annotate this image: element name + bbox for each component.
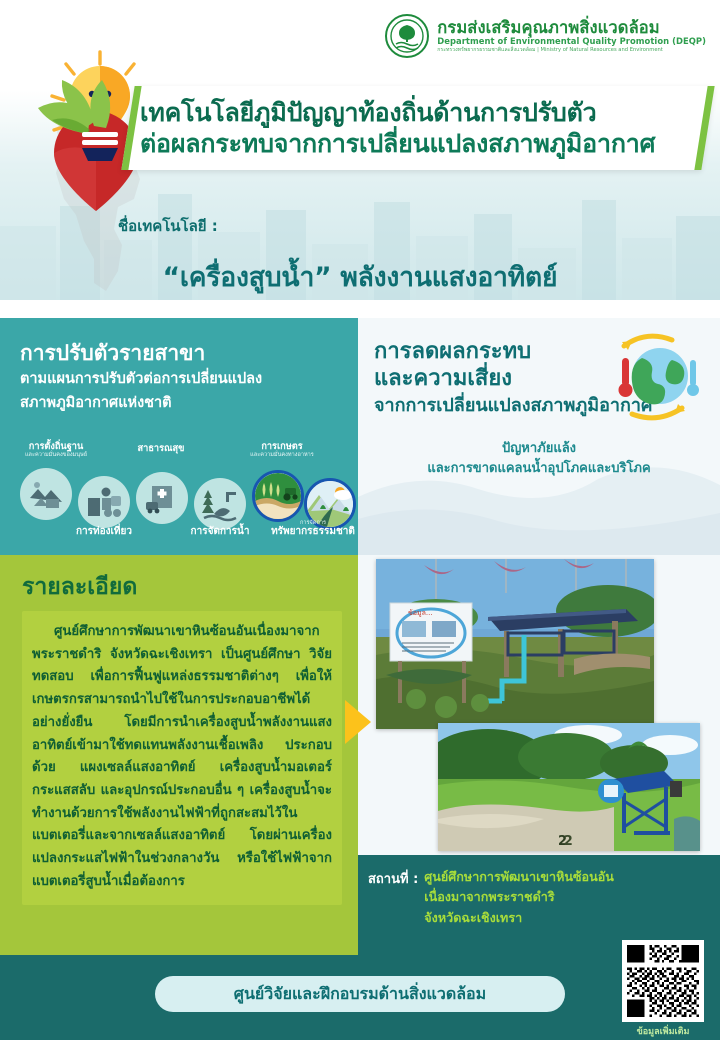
location-line-2: เนื่องมาจากพระราชดำริ (424, 887, 614, 907)
poster-title: เทคโนโลยีภูมิปัญญาท้องถิ่นด้านการปรับตัว… (140, 86, 710, 170)
agriculture-glyph (255, 473, 301, 519)
impact-panel: การลดผลกระทบ และความเสี่ยง จากการเปลี่ยน… (358, 318, 720, 555)
tree-water-glyph (390, 19, 424, 53)
org-ministry: กระทรวงทรัพยากรธรรมชาติและสิ่งแวดล้อม | … (437, 48, 706, 53)
poster-root: เทคโนโลยีภูมิปัญญาท้องถิ่นด้านการปรับตัว… (0, 0, 720, 1040)
org-name-th: กรมส่งเสริมคุณภาพสิ่งแวดล้อม (437, 19, 706, 36)
sector-label-tourism: การท่องเที่ยว (58, 526, 150, 537)
sector-label-water-management: การจัดการน้ำ (174, 526, 266, 537)
adaptation-panel: การปรับตัวรายสาขา ตามแผนการปรับตัวต่อการ… (0, 318, 358, 555)
location-label: สถานที่ : (368, 867, 418, 955)
mid-panels: การปรับตัวรายสาขา ตามแผนการปรับตัวต่อการ… (0, 318, 720, 555)
footer-center-name: ศูนย์วิจัยและฝึกอบรมด้านสิ่งแวดล้อม (234, 982, 486, 1007)
svg-text:ข้อมูล...: ข้อมูล... (408, 609, 433, 617)
sector-icon-row: การตั้งถิ่นฐาน และความมั่นคงของมนุษย์ สา… (8, 442, 358, 552)
details-body-box: ศูนย์ศึกษาการพัฒนาเขาหินซ้อนอันเนื่องมาจ… (22, 611, 342, 905)
tourism-glyph (84, 482, 124, 522)
adaptation-subheading-2: สภาพภูมิอากาศแห่งชาติ (20, 393, 344, 414)
impact-issue-line-2: และการขาดแคลนน้ำอุปโภคและบริโภค (374, 459, 704, 479)
sector-label-settlement: การตั้งถิ่นฐาน และความมั่นคงของมนุษย์ (10, 442, 102, 459)
title-line-2: ต่อผลกระทบจากการเปลี่ยนแปลงสภาพภูมิอากาศ (140, 129, 655, 159)
details-heading: รายละเอียด (22, 569, 342, 605)
settlement-icon[interactable] (20, 468, 72, 520)
adaptation-heading: การปรับตัวรายสาขา (20, 340, 344, 366)
water-glyph (200, 484, 240, 524)
poster-header: เทคโนโลยีภูมิปัญญาท้องถิ่นด้านการปรับตัว… (0, 0, 720, 300)
hospital-glyph (142, 478, 182, 518)
water-management-icon[interactable] (194, 478, 246, 530)
title-line-1: เทคโนโลยีภูมิปัญญาท้องถิ่นด้านการปรับตัว (140, 98, 596, 128)
qr-caption: ข้อมูลเพิ่มเติม (618, 1024, 708, 1038)
impact-issue: ปัญหาภัยแล้ง และการขาดแคลนน้ำอุปโภคและบร… (374, 439, 704, 479)
location-line-3: จังหวัดฉะเชิงเทรา (424, 908, 614, 928)
public-health-icon[interactable] (136, 472, 188, 524)
photo-solar-pump-field[interactable]: 2 2 (438, 723, 700, 851)
tech-name-value: “เครื่องสูบน้ำ” พลังงานแสงอาทิตย์ (0, 256, 720, 298)
footer-center-pill: ศูนย์วิจัยและฝึกอบรมด้านสิ่งแวดล้อม (155, 976, 565, 1012)
deqp-logo-text: กรมส่งเสริมคุณภาพสิ่งแวดล้อม Department … (437, 19, 706, 53)
tourism-icon[interactable] (78, 476, 130, 528)
sector-label-natural-resources: การจัดการ ทรัพยากรธรรมชาติ (266, 520, 360, 537)
details-body-text: ศูนย์ศึกษาการพัฒนาเขาหินซ้อนอันเนื่องมาจ… (32, 621, 332, 893)
photo2-illustration: 2 (438, 723, 700, 851)
details-panel: รายละเอียด ศูนย์ศึกษาการพัฒนาเขาหินซ้อนอ… (0, 555, 358, 955)
photo-solar-pump-signboard[interactable]: ข้อมูล... (376, 559, 654, 729)
qr-code-glyph (627, 945, 699, 1017)
settlement-glyph (26, 474, 66, 514)
pointer-arrow-icon (345, 700, 371, 744)
location-value: ศูนย์ศึกษาการพัฒนาเขาหินซ้อนอัน เนื่องมา… (424, 867, 614, 955)
sector-label-public-health: สาธารณสุข (116, 444, 206, 454)
sector-label-agriculture: การเกษตร และความมั่นคงทางอาหาร (230, 442, 334, 459)
agriculture-icon[interactable] (252, 470, 304, 522)
deqp-logo: กรมส่งเสริมคุณภาพสิ่งแวดล้อม Department … (385, 14, 706, 58)
impact-issue-line-1: ปัญหาภัยแล้ง (374, 439, 704, 459)
tech-name-label: ชื่อเทคโนโลยี : (118, 214, 218, 238)
location-line-1: ศูนย์ศึกษาการพัฒนาเขาหินซ้อนอัน (424, 867, 614, 887)
org-name-en: Department of Environmental Quality Prom… (437, 37, 706, 46)
qr-code[interactable] (622, 940, 704, 1022)
photo1-illustration: ข้อมูล... (376, 559, 654, 729)
photo-zone: ข้อมูล... (358, 555, 720, 955)
globe-thermometer-icon (598, 330, 706, 426)
adaptation-subheading-1: ตามแผนการปรับตัวต่อการเปลี่ยนแปลง (20, 369, 344, 390)
deqp-emblem-icon (385, 14, 429, 58)
photo-number: 2 (564, 834, 573, 849)
